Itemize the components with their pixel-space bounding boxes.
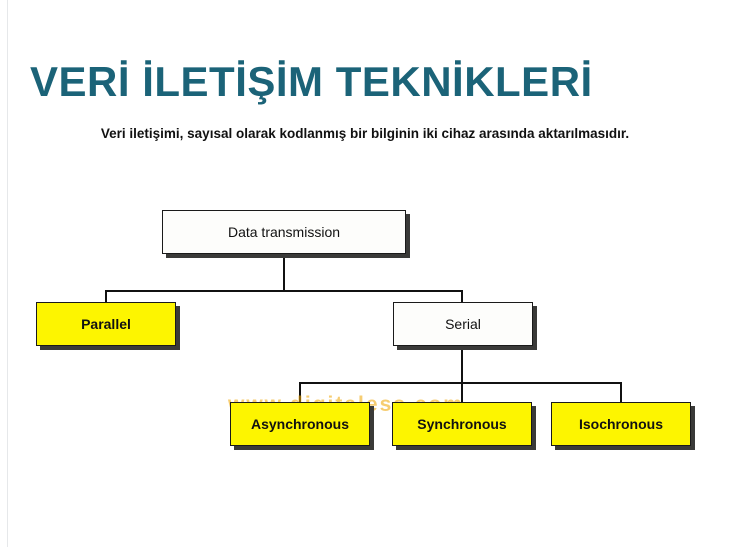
node-label-parallel: Parallel [75, 317, 137, 331]
node-label-isochronous: Isochronous [573, 417, 669, 431]
connector-to-asynchronous [299, 382, 301, 403]
node-parallel[interactable]: Parallel [36, 302, 176, 346]
connector-to-synchronous [461, 382, 463, 403]
node-label-serial: Serial [439, 317, 487, 331]
connector-root-stem [283, 253, 285, 291]
data-transmission-tree-diagram: www.digitaless.com Data transmission Par… [0, 0, 730, 547]
connector-to-isochronous [620, 382, 622, 403]
node-label-synchronous: Synchronous [411, 417, 512, 431]
node-label-asynchronous: Asynchronous [245, 417, 355, 431]
connector-serial-stem [461, 346, 463, 383]
slide-canvas: VERİ İLETİŞİM TEKNİKLERİ Veri iletişimi,… [0, 0, 730, 547]
connector-level1-bar [105, 290, 462, 292]
node-serial[interactable]: Serial [393, 302, 533, 346]
node-isochronous[interactable]: Isochronous [551, 402, 691, 446]
node-data-transmission[interactable]: Data transmission [162, 210, 406, 254]
node-label-data-transmission: Data transmission [222, 225, 346, 239]
node-synchronous[interactable]: Synchronous [392, 402, 532, 446]
node-asynchronous[interactable]: Asynchronous [230, 402, 370, 446]
